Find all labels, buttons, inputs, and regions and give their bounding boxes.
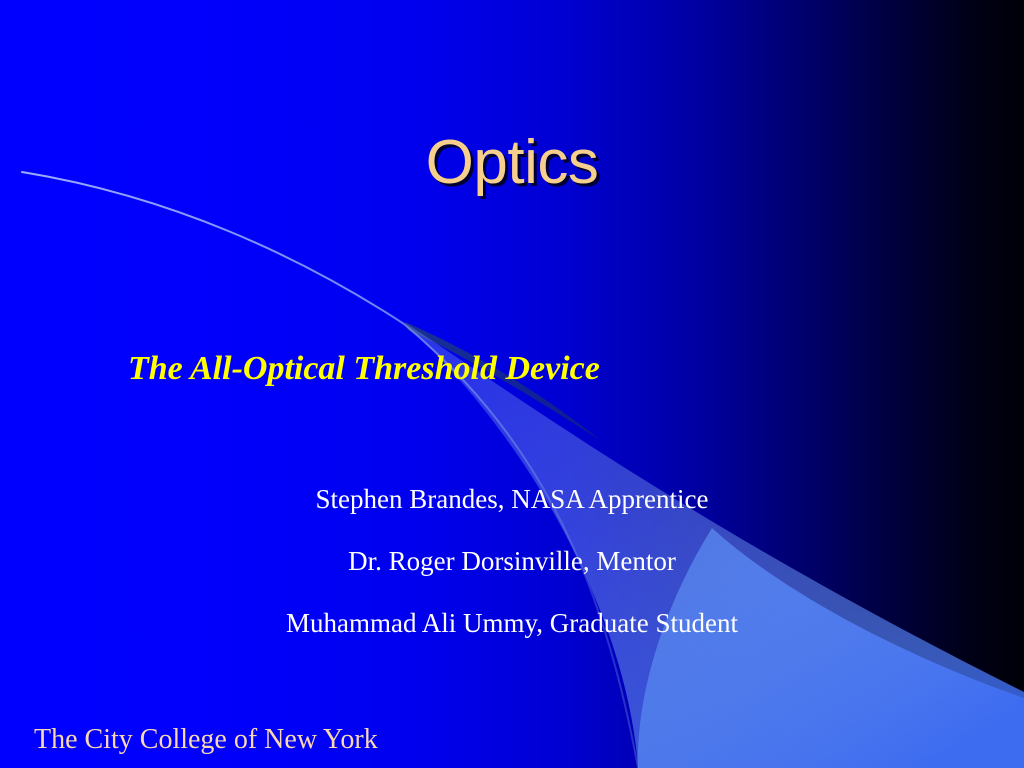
slide-subtitle: The All-Optical Threshold Device [128, 352, 600, 386]
footer-organization: The City College of New York [34, 726, 378, 754]
credit-line-mentor: Dr. Roger Dorsinville, Mentor [0, 548, 1024, 575]
page-title: Optics [0, 132, 1024, 194]
slide-content: Optics The All-Optical Threshold Device … [0, 0, 1024, 768]
credits-block: Stephen Brandes, NASA Apprentice Dr. Rog… [0, 486, 1024, 637]
credit-line-author: Stephen Brandes, NASA Apprentice [0, 486, 1024, 513]
credit-line-graduate-student: Muhammad Ali Ummy, Graduate Student [0, 610, 1024, 637]
presentation-slide: Optics The All-Optical Threshold Device … [0, 0, 1024, 768]
